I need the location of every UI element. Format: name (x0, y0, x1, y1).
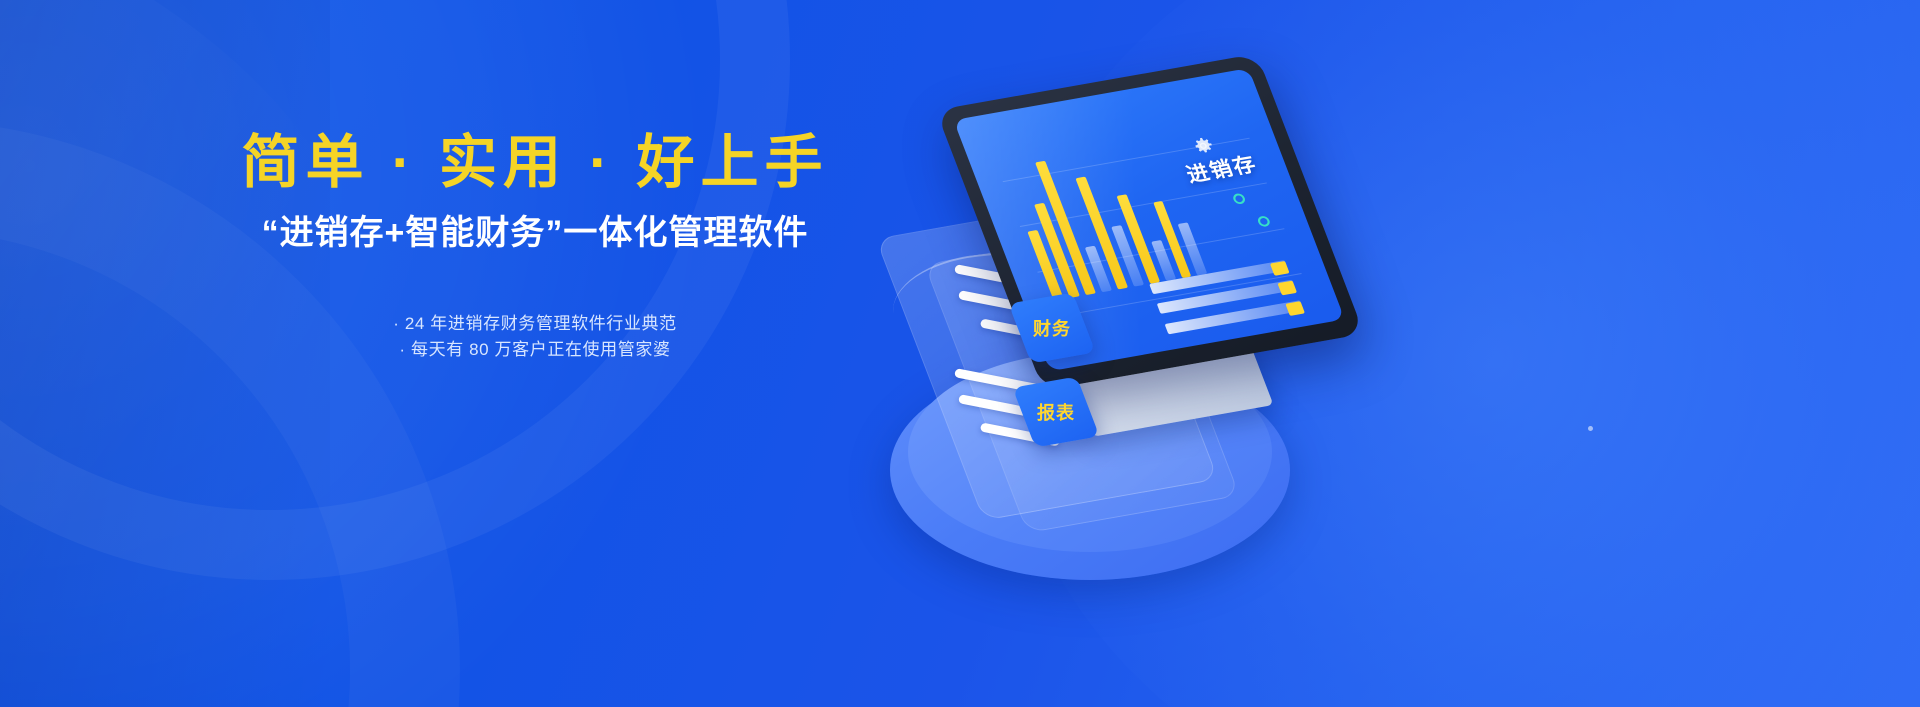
screen-label: 进销存 (1182, 148, 1262, 188)
feature-chip-label: 财务 (1033, 315, 1071, 341)
screen-list-marker (1285, 301, 1305, 316)
decorative-dot (1588, 426, 1593, 431)
node-dot-icon (1232, 192, 1247, 204)
screen-list-marker (1277, 281, 1297, 296)
feature-chip-label: 报表 (1037, 399, 1075, 425)
hero-banner: 简单 · 实用 · 好上手 “进销存+智能财务”一体化管理软件 · 24 年进销… (0, 0, 1920, 707)
node-dot-icon (1256, 215, 1271, 227)
screen-list-marker (1269, 261, 1289, 276)
product-illustration: 进销存 财务 报表 (880, 60, 1350, 620)
